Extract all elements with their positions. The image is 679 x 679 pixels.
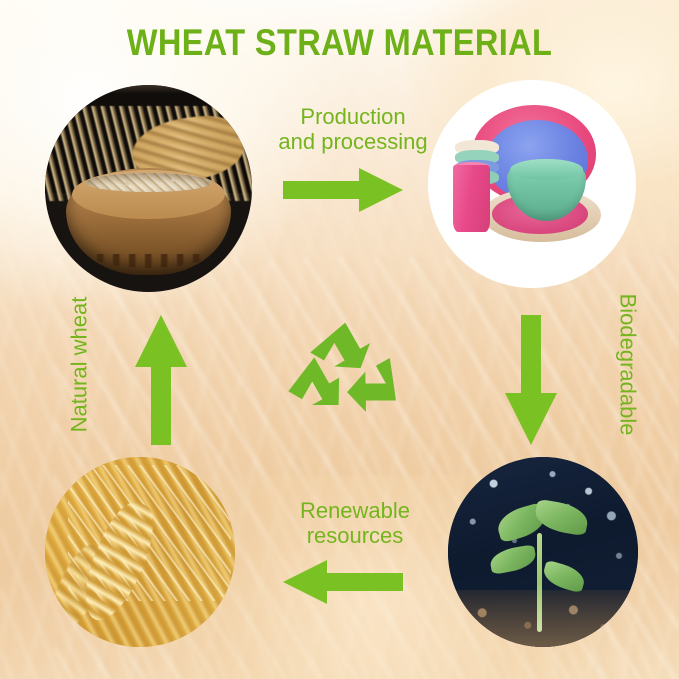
arrow-up-icon xyxy=(135,315,187,445)
arrow-left-icon xyxy=(283,560,403,604)
pink-cup xyxy=(453,165,490,232)
label-renewable-line2: resources xyxy=(275,523,435,548)
water-droplets xyxy=(448,457,638,647)
wheat-grains xyxy=(86,173,211,192)
seedling-photo xyxy=(448,457,638,647)
wooden-bowl-carving xyxy=(89,254,208,268)
arrow-right-icon xyxy=(283,168,403,212)
recycle-icon xyxy=(286,315,404,433)
page-title: WHEAT STRAW MATERIAL xyxy=(41,22,639,64)
label-biodegradable: Biodegradable xyxy=(615,280,640,450)
seedling-stem xyxy=(537,533,542,632)
arrow-down-icon xyxy=(505,315,557,445)
label-production-line2: and processing xyxy=(273,129,433,154)
golden-wheat-field-photo xyxy=(45,457,235,647)
wooden-bowl-rim xyxy=(72,170,224,220)
label-natural-wheat: Natural wheat xyxy=(66,285,91,445)
mint-bowl-interior xyxy=(510,159,583,180)
infographic-poster: WHEAT STRAW MATERIAL xyxy=(0,0,679,679)
wheat-straw-dinnerware-photo xyxy=(428,80,636,288)
label-renewable-line1: Renewable xyxy=(275,498,435,523)
wooden-bowl xyxy=(66,168,232,276)
label-production-line1: Production xyxy=(273,104,433,129)
label-renewable-resources: Renewable resources xyxy=(275,498,435,548)
label-production-and-processing: Production and processing xyxy=(273,104,433,154)
wheat-grain-bowl-photo xyxy=(45,85,252,292)
